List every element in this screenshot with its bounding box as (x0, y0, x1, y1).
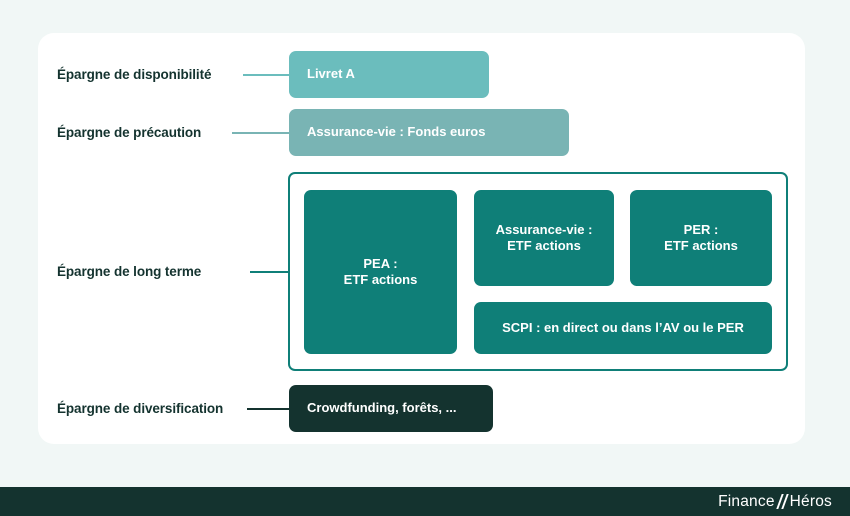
footer-bar: Finance Héros (0, 487, 850, 516)
row-label-precaution: Épargne de précaution (57, 126, 201, 140)
box-pea-etf-actions: PEA : ETF actions (304, 190, 457, 354)
box-pea-line1: PEA : (363, 256, 397, 271)
connector-line-long-terme (250, 271, 290, 273)
box-per-etf-actions: PER : ETF actions (630, 190, 772, 286)
box-av-etf-text: Assurance-vie : ETF actions (496, 222, 593, 255)
box-assurance-vie-fonds-euros: Assurance-vie : Fonds euros (289, 109, 569, 156)
row-label-diversification: Épargne de diversification (57, 402, 223, 416)
connector-line-disponibilite (243, 74, 290, 76)
box-crowdfunding: Crowdfunding, forêts, ... (289, 385, 493, 432)
box-per-etf-line1: PER : (684, 222, 719, 237)
box-per-etf-line2: ETF actions (664, 238, 738, 253)
infographic-canvas: Épargne de disponibilité Livret A Épargn… (0, 0, 850, 516)
row-label-long-terme: Épargne de long terme (57, 265, 201, 279)
connector-line-diversification (247, 408, 291, 410)
brand-text-finance: Finance (718, 493, 775, 511)
box-pea-line2: ETF actions (344, 272, 418, 287)
double-slash-icon (776, 494, 789, 509)
box-assurance-vie-etf-actions: Assurance-vie : ETF actions (474, 190, 614, 286)
box-pea-text: PEA : ETF actions (344, 256, 418, 289)
brand-text-heros: Héros (790, 493, 832, 511)
box-av-etf-line2: ETF actions (507, 238, 581, 253)
box-scpi: SCPI : en direct ou dans l’AV ou le PER (474, 302, 772, 354)
box-av-etf-line1: Assurance-vie : (496, 222, 593, 237)
connector-line-precaution (232, 132, 290, 134)
box-per-etf-text: PER : ETF actions (664, 222, 738, 255)
box-livret-a: Livret A (289, 51, 489, 98)
row-label-disponibilite: Épargne de disponibilité (57, 68, 211, 82)
brand-logo: Finance Héros (718, 493, 832, 511)
